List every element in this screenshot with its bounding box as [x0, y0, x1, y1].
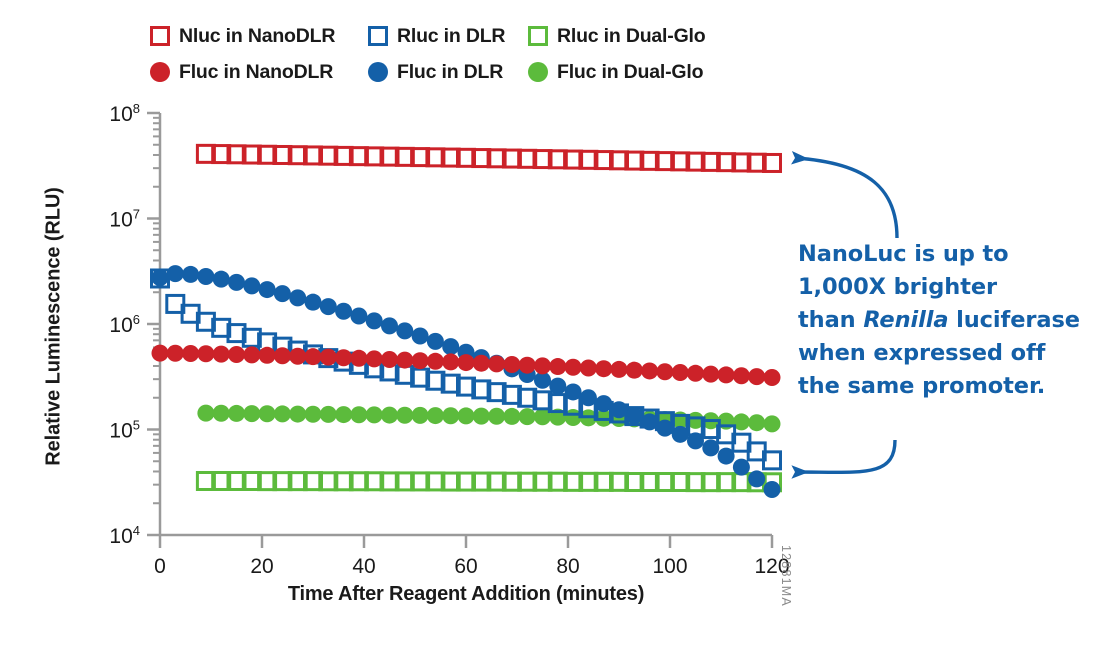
figure-code: 12881MA	[779, 545, 793, 607]
x-axis-tick-label: 60	[454, 555, 477, 578]
x-axis-tick-label: 0	[154, 555, 166, 578]
annotation-line-4: when expressed off	[798, 337, 1098, 370]
annotation-line-3: than Renilla luciferase	[798, 304, 1098, 337]
y-axis-tick-label: 106	[109, 312, 140, 337]
y-axis-tick-label: 105	[109, 418, 140, 443]
y-axis-tick-label: 107	[109, 207, 140, 232]
annotation-line-3-post: luciferase	[948, 307, 1080, 333]
x-axis-tick-label: 100	[652, 555, 687, 578]
chart-figure: Nluc in NanoDLR Rluc in DLR Rluc in Dual…	[0, 0, 1120, 647]
annotation-line-3-italic: Renilla	[863, 307, 948, 333]
y-axis-tick-label: 108	[109, 101, 140, 126]
series-nluc-in-nanodlr	[197, 145, 780, 171]
callout-arrow-bottom	[795, 440, 895, 472]
annotation-line-5: the same promoter.	[798, 370, 1098, 403]
series-rluc-in-dual-glo	[197, 472, 780, 490]
x-axis-tick-label: 40	[352, 555, 375, 578]
annotation-line-3-pre: than	[798, 307, 863, 333]
y-axis-tick-label: 104	[109, 523, 140, 548]
series-fluc-in-dlr	[152, 265, 781, 498]
annotation-line-2: 1,000X brighter	[798, 271, 1098, 304]
x-axis-tick-label: 20	[250, 555, 273, 578]
x-axis-tick-label: 80	[556, 555, 579, 578]
callout-arrow-top	[795, 158, 897, 238]
annotation-line-1: NanoLuc is up to	[798, 238, 1098, 271]
callout-annotation: NanoLuc is up to 1,000X brighter than Re…	[798, 238, 1098, 403]
